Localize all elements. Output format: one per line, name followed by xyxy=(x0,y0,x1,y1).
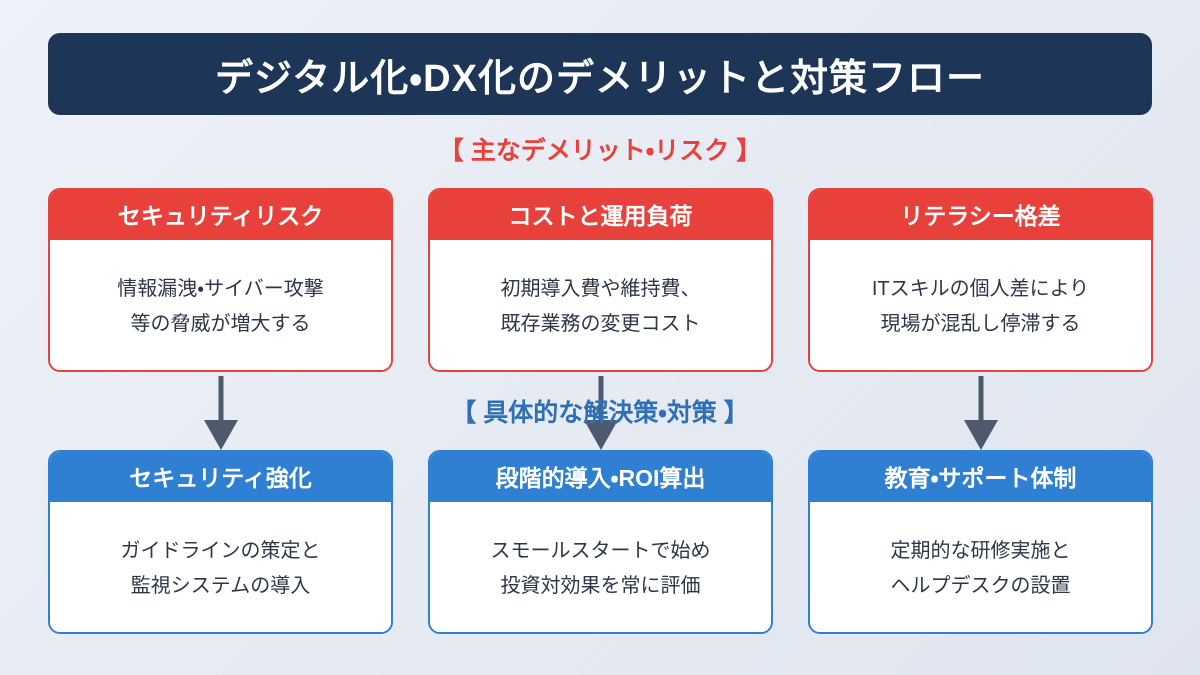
risk-card-line-2: 既存業務の変更コスト xyxy=(501,310,701,339)
solution-card-phased-roi[interactable]: 段階的導入・ROI算出 スモールスタートで始め 投資対効果を常に評価 xyxy=(428,450,773,634)
solution-card-title: 教育・サポート体制 xyxy=(808,450,1153,502)
risk-card-body: 情報漏洩・サイバー攻撃 等の脅威が増大する xyxy=(50,240,391,372)
risk-card-line-2: 等の脅威が増大する xyxy=(131,310,311,339)
risk-card-line-1: 初期導入費や維持費、 xyxy=(501,275,701,304)
risk-card-line-1: ITスキルの個人差により xyxy=(872,275,1089,304)
solution-card-training-support[interactable]: 教育・サポート体制 定期的な研修実施と ヘルプデスクの設置 xyxy=(808,450,1153,634)
solution-card-security[interactable]: セキュリティ強化 ガイドラインの策定と 監視システムの導入 xyxy=(48,450,393,634)
solution-card-line-1: ガイドラインの策定と xyxy=(121,537,321,566)
risk-card-line-2: 現場が混乱し停滞する xyxy=(881,310,1081,339)
section-heading-solutions: 【 具体的な解決策・対策 】 xyxy=(0,393,1200,429)
solution-card-line-2: 監視システムの導入 xyxy=(131,572,310,601)
solution-card-line-2: ヘルプデスクの設置 xyxy=(891,572,1071,601)
solution-card-line-2: 投資対効果を常に評価 xyxy=(501,572,701,601)
risk-card-literacy[interactable]: リテラシー格差 ITスキルの個人差により 現場が混乱し停滞する xyxy=(808,188,1153,372)
risk-card-body: 初期導入費や維持費、 既存業務の変更コスト xyxy=(430,240,771,372)
infographic-canvas: デジタル化・DX化のデメリットと対策フロー 【 主なデメリット・リスク 】 【 … xyxy=(0,0,1200,675)
solution-card-line-1: 定期的な研修実施と xyxy=(891,537,1071,566)
risk-card-security[interactable]: セキュリティリスク 情報漏洩・サイバー攻撃 等の脅威が増大する xyxy=(48,188,393,372)
page-title: デジタル化・DX化のデメリットと対策フロー xyxy=(215,47,985,102)
risk-card-line-1: 情報漏洩・サイバー攻撃 xyxy=(117,275,323,304)
solution-card-body: ガイドラインの策定と 監視システムの導入 xyxy=(50,502,391,634)
section-heading-risks: 【 主なデメリット・リスク 】 xyxy=(0,131,1200,167)
solution-card-line-1: スモールスタートで始め xyxy=(491,537,711,566)
solution-card-body: スモールスタートで始め 投資対効果を常に評価 xyxy=(430,502,771,634)
solution-card-title: セキュリティ強化 xyxy=(48,450,393,502)
risk-card-cost[interactable]: コストと運用負荷 初期導入費や維持費、 既存業務の変更コスト xyxy=(428,188,773,372)
risk-card-title: セキュリティリスク xyxy=(48,188,393,240)
risk-card-title: コストと運用負荷 xyxy=(428,188,773,240)
solution-card-body: 定期的な研修実施と ヘルプデスクの設置 xyxy=(810,502,1151,634)
risk-card-body: ITスキルの個人差により 現場が混乱し停滞する xyxy=(810,240,1151,372)
page-title-bar: デジタル化・DX化のデメリットと対策フロー xyxy=(48,33,1152,115)
risk-card-title: リテラシー格差 xyxy=(808,188,1153,240)
solution-card-title: 段階的導入・ROI算出 xyxy=(428,450,773,502)
